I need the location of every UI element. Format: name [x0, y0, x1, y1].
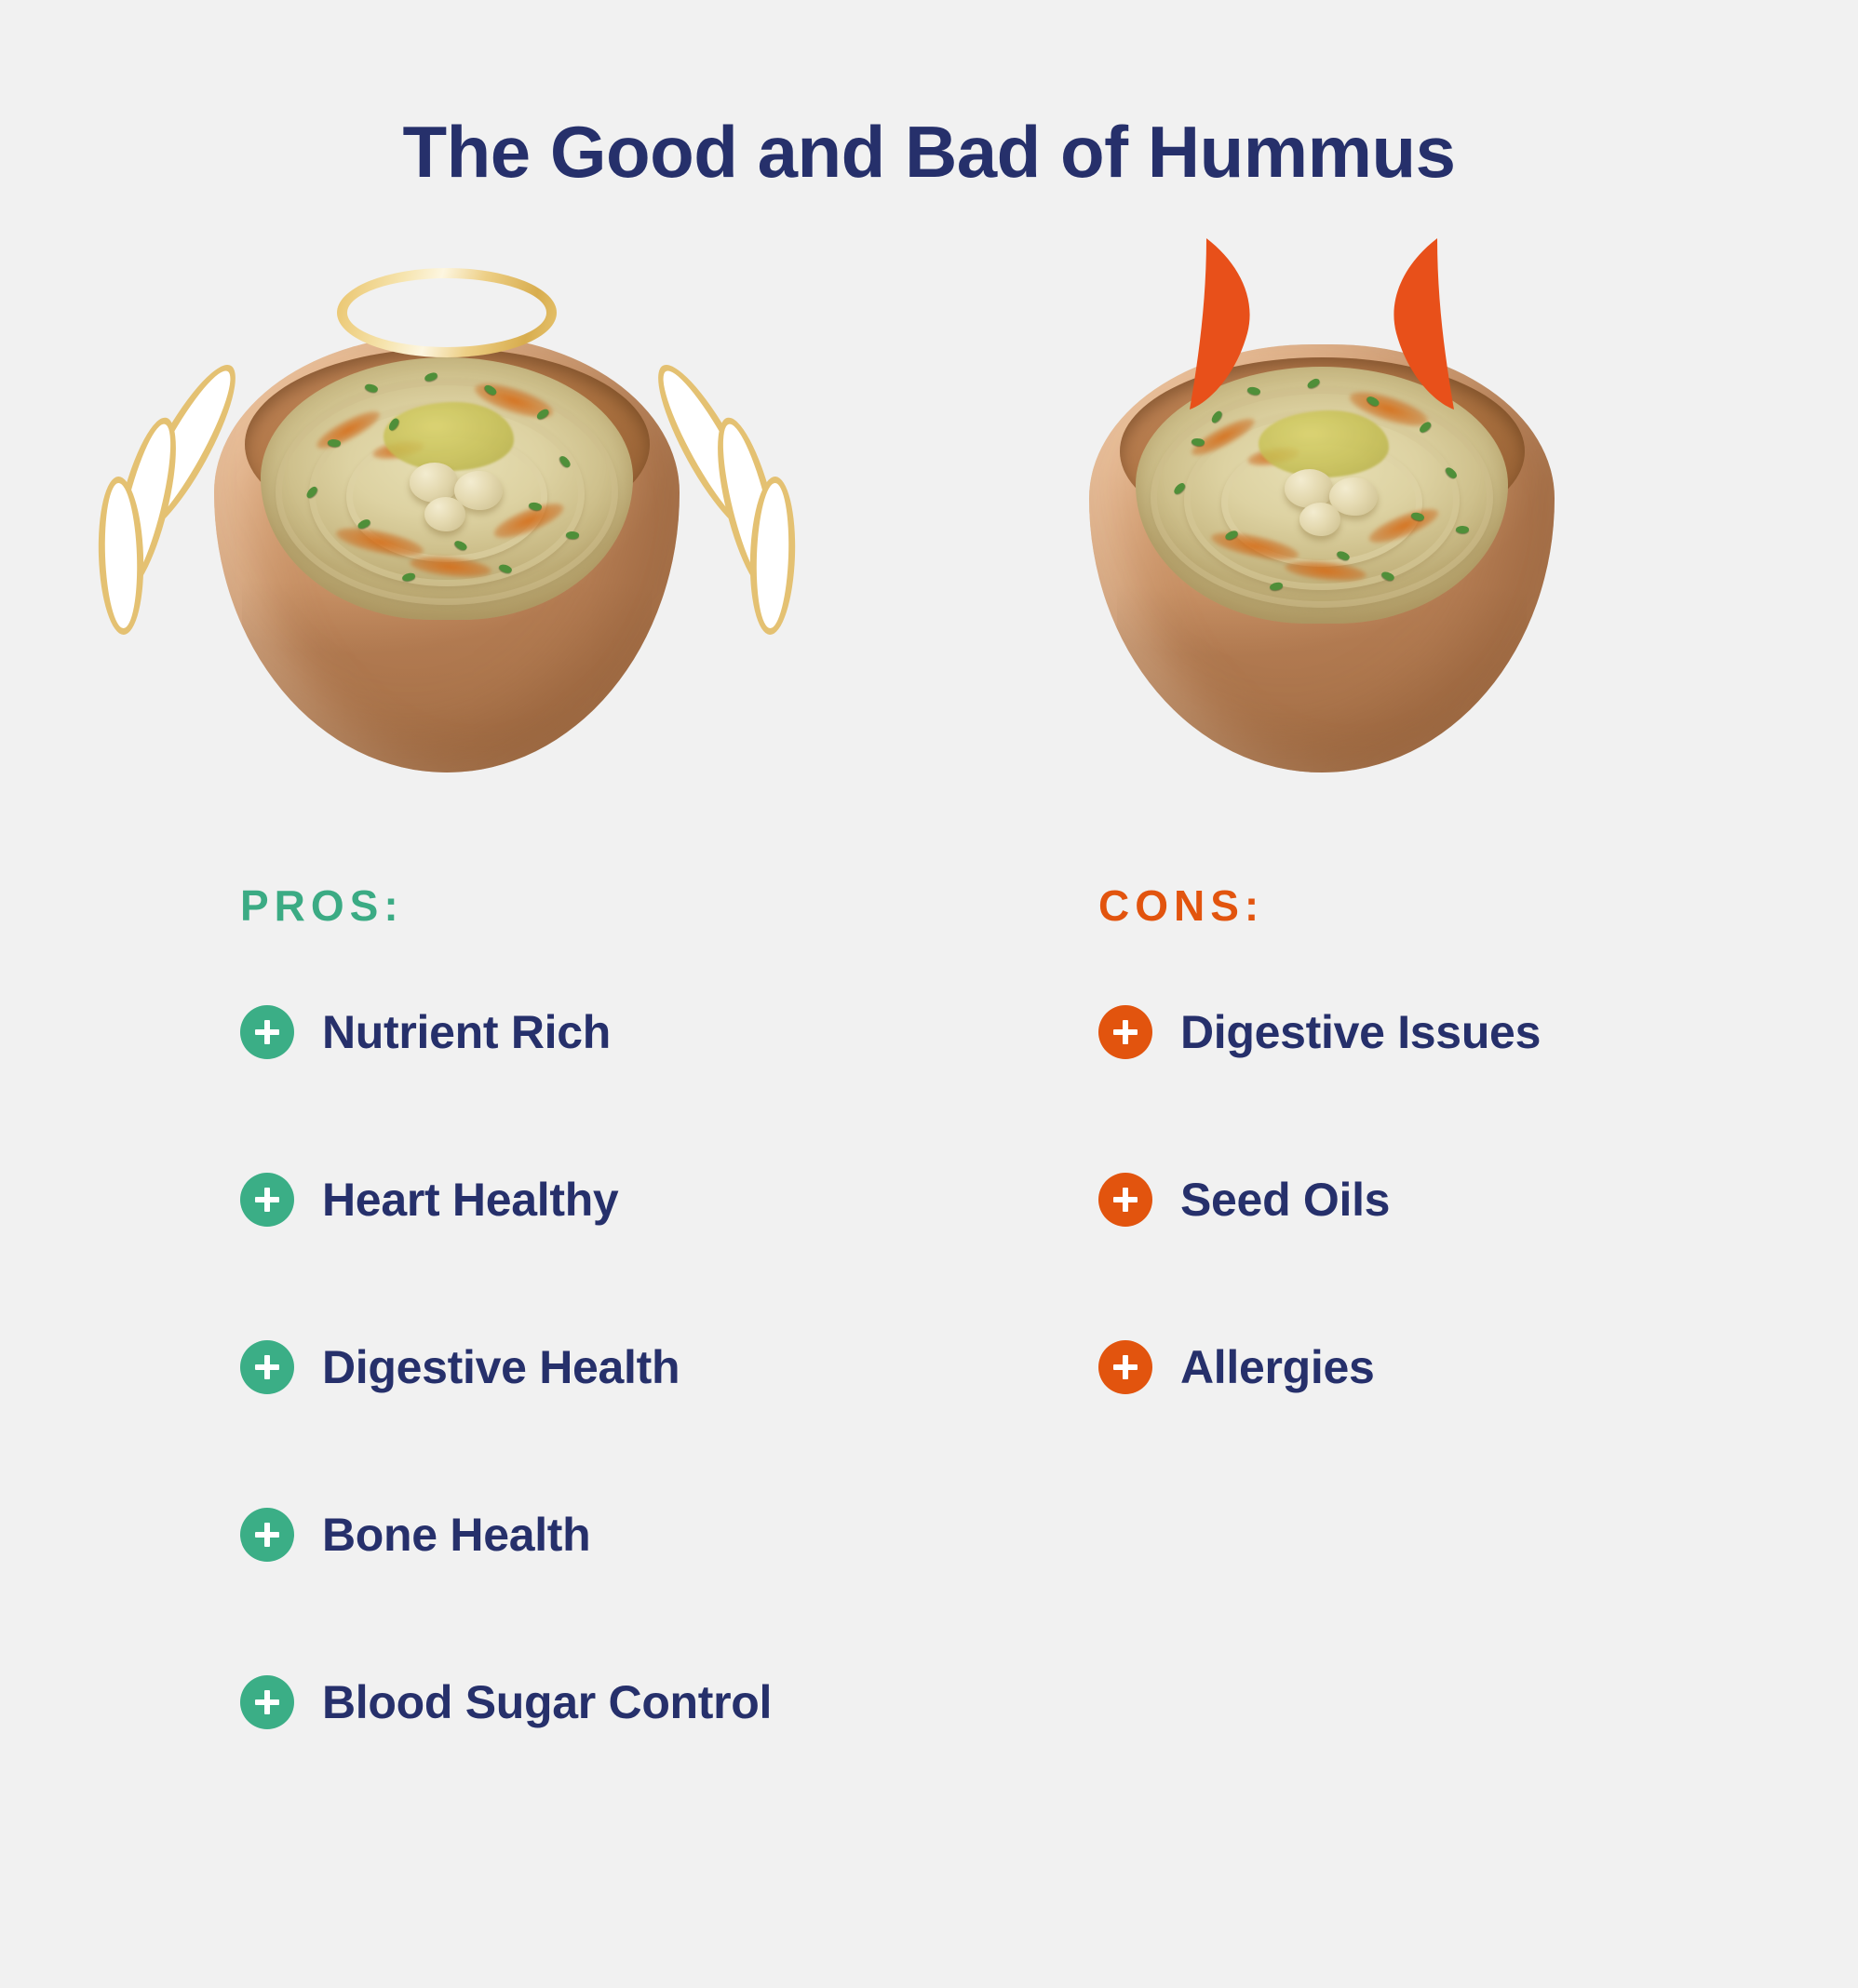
plus-icon — [240, 1340, 294, 1394]
plus-icon — [240, 1005, 294, 1059]
list-item[interactable]: Bone Health — [240, 1495, 1041, 1575]
plus-icon — [240, 1675, 294, 1729]
plus-icon — [1098, 1340, 1152, 1394]
list-item-label: Bone Health — [322, 1511, 590, 1558]
list-item[interactable]: Heart Healthy — [240, 1160, 1041, 1240]
cons-header: CONS: — [1098, 884, 1843, 927]
angel-wing-right-icon — [592, 354, 788, 633]
page-title: The Good and Bad of Hummus — [0, 110, 1858, 195]
angel-hummus-bowl — [121, 261, 773, 847]
plus-icon — [1098, 1173, 1152, 1227]
list-item[interactable]: Digestive Issues — [1098, 992, 1843, 1072]
illustration-row — [0, 261, 1858, 847]
devil-hummus-bowl — [996, 261, 1648, 847]
plus-icon — [240, 1173, 294, 1227]
pros-list: Nutrient Rich Heart Healthy Digestive He… — [240, 992, 1041, 1742]
list-item-label: Blood Sugar Control — [322, 1679, 772, 1726]
pros-column: PROS: Nutrient Rich Heart Healthy Digest… — [240, 884, 1041, 1742]
devil-horns-icon — [1117, 235, 1527, 458]
list-item[interactable]: Nutrient Rich — [240, 992, 1041, 1072]
angel-wing-left-icon — [106, 354, 302, 633]
plus-icon — [240, 1508, 294, 1562]
list-item-label: Heart Healthy — [322, 1176, 618, 1223]
plus-icon — [1098, 1005, 1152, 1059]
cons-list: Digestive Issues Seed Oils Allergies — [1098, 992, 1843, 1407]
pros-cons-columns: PROS: Nutrient Rich Heart Healthy Digest… — [0, 884, 1858, 1861]
list-item-label: Nutrient Rich — [322, 1009, 611, 1055]
pros-header: PROS: — [240, 884, 1041, 927]
list-item[interactable]: Digestive Health — [240, 1327, 1041, 1407]
list-item[interactable]: Allergies — [1098, 1327, 1843, 1407]
list-item[interactable]: Blood Sugar Control — [240, 1662, 1041, 1742]
halo-icon — [337, 268, 557, 357]
list-item-label: Digestive Issues — [1180, 1009, 1541, 1055]
cons-column: CONS: Digestive Issues Seed Oils Allergi… — [1098, 884, 1843, 1407]
list-item-label: Digestive Health — [322, 1344, 680, 1390]
list-item[interactable]: Seed Oils — [1098, 1160, 1843, 1240]
list-item-label: Seed Oils — [1180, 1176, 1390, 1223]
infographic-root: The Good and Bad of Hummus — [0, 0, 1858, 1988]
list-item-label: Allergies — [1180, 1344, 1375, 1390]
